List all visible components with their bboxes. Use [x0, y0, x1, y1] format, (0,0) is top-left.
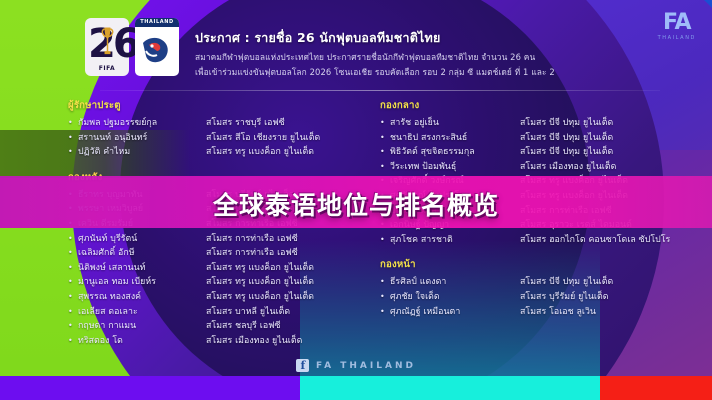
- player-club: สโมสร ชลบุรี เอฟซี: [206, 319, 368, 334]
- goalkeeper-list: •กัมพล ปฐมอรรฆย์กุลสโมสร ราชบุรี เอฟซี •…: [68, 116, 368, 160]
- player-name: นิติพงษ์ เสลานนท์: [78, 261, 206, 276]
- facebook-icon: [296, 359, 309, 372]
- bullet-icon: •: [68, 319, 78, 334]
- bullet-icon: •: [68, 246, 78, 261]
- list-item: •พิธิวัตต์ สุขจิตธรรมกุลสโมสร บีจี ปทุม …: [380, 145, 702, 160]
- fa-thailand-logo: FA THAILAND: [658, 12, 696, 41]
- header-text: ประกาศ : รายชื่อ 26 นักฟุตบอลทีมชาติไทย …: [189, 16, 695, 90]
- section-heading-forwards: กองหน้า: [380, 257, 702, 272]
- crest-label: THAILAND: [135, 18, 179, 27]
- list-item: •สรานนท์ อนุอินทร์สโมสร สีโอ เชียงราย ยู…: [68, 131, 368, 146]
- player-club: สโมสร บีจี ปทุม ยูไนเต็ด: [520, 145, 702, 160]
- bullet-icon: •: [68, 145, 78, 160]
- bullet-icon: •: [68, 131, 78, 146]
- player-club: สโมสร บาหลี ยูไนเต็ด: [206, 305, 368, 320]
- list-item: •กฤษดา กาแมนสโมสร ชลบุรี เอฟซี: [68, 319, 368, 334]
- list-item: •เฉลิมศักดิ์ อักษีสโมสร การท่าเรือ เอฟซี: [68, 246, 368, 261]
- list-item: •มานูเอล ทอม เบียห์รสโมสร ทรู แบงค็อก ยู…: [68, 275, 368, 290]
- bullet-icon: •: [380, 275, 390, 290]
- player-club: สโมสร เมืองทอง ยูไนเต็ด: [206, 334, 368, 349]
- player-name: วีระเทพ ป้อมพันธุ์: [390, 160, 520, 175]
- page-title: ประกาศ : รายชื่อ 26 นักฟุตบอลทีมชาติไทย: [195, 28, 695, 48]
- player-club: สโมสร เมืองทอง ยูไนเต็ด: [520, 160, 702, 175]
- bullet-icon: •: [68, 275, 78, 290]
- list-item: •วีระเทพ ป้อมพันธุ์สโมสร เมืองทอง ยูไนเต…: [380, 160, 702, 175]
- player-club: สโมสร ราชบุรี เอฟซี: [206, 116, 368, 131]
- section-heading-goalkeepers: ผู้รักษาประตู: [68, 98, 368, 113]
- poster-header: 26 FIFA THAILAND ประกาศ : รายชื่อ: [85, 16, 695, 90]
- player-name: มานูเอล ทอม เบียห์ร: [78, 275, 206, 290]
- player-name: เฉลิมศักดิ์ อักษี: [78, 246, 206, 261]
- player-name: สุภโชค สารชาติ: [390, 233, 520, 248]
- bullet-icon: •: [380, 290, 390, 305]
- footer-strip-red: [600, 376, 712, 400]
- player-club: สโมสร สีโอ เชียงราย ยูไนเต็ด: [206, 131, 368, 146]
- fifa-world-cup-26-badge: 26 FIFA: [85, 18, 129, 76]
- player-name: ทริสตอง โด: [78, 334, 206, 349]
- list-item: •นิติพงษ์ เสลานนท์สโมสร ทรู แบงค็อก ยูไน…: [68, 261, 368, 276]
- bullet-icon: •: [68, 116, 78, 131]
- player-name: ศุภชัย ใจเด็ด: [390, 290, 520, 305]
- player-name: พิธิวัตต์ สุขจิตธรรมกุล: [390, 145, 520, 160]
- list-item: •เอเลียส ดอเลาะสโมสร บาหลี ยูไนเต็ด: [68, 305, 368, 320]
- bullet-icon: •: [380, 233, 390, 248]
- player-club: สโมสร ทรู แบงค็อก ยูไนเต็ด: [206, 145, 368, 160]
- list-item: •ศุภชัย ใจเด็ดสโมสร บุรีรัมย์ ยูไนเต็ด: [380, 290, 702, 305]
- player-club: สโมสร การท่าเรือ เอฟซี: [206, 232, 368, 247]
- player-club: สโมสร ทรู แบงค็อก ยูไนเต็ด: [206, 290, 368, 305]
- list-item: •สารัช อยู่เย็นสโมสร บีจี ปทุม ยูไนเต็ด: [380, 116, 702, 131]
- list-item: •สุพรรณ ทองสงค์สโมสร ทรู แบงค็อก ยูไนเต็…: [68, 290, 368, 305]
- player-club: สโมสร บีจี ปทุม ยูไนเต็ด: [520, 275, 702, 290]
- bullet-icon: •: [68, 305, 78, 320]
- overlay-title: 全球泰语地位与排名概览: [0, 186, 712, 222]
- forward-list: •ธีรศิลป์ แดงดาสโมสร บีจี ปทุม ยูไนเต็ด …: [380, 275, 702, 319]
- elephant-icon: [137, 31, 177, 71]
- bullet-icon: •: [68, 232, 78, 247]
- player-club: สโมสร ฮอกไกโด คอนซาโดเล ซัปโปโร: [520, 233, 702, 248]
- social-handle: FA THAILAND: [316, 361, 416, 371]
- player-club: สโมสร บีจี ปทุม ยูไนเต็ด: [520, 116, 702, 131]
- section-forwards: กองหน้า •ธีรศิลป์ แดงดาสโมสร บีจี ปทุม ย…: [380, 257, 702, 319]
- player-club: สโมสร บุรีรัมย์ ยูไนเต็ด: [520, 290, 702, 305]
- player-name: เอเลียส ดอเลาะ: [78, 305, 206, 320]
- bullet-icon: •: [380, 116, 390, 131]
- footer-strip-purple: [0, 376, 300, 400]
- player-name: สุพรรณ ทองสงค์: [78, 290, 206, 305]
- footer-strip-cyan: [300, 376, 600, 400]
- player-name: สรานนท์ อนุอินทร์: [78, 131, 206, 146]
- header-subtitle-2: เพื่อเข้าร่วมแข่งขันฟุตบอลโลก 2026 โซนเอ…: [195, 66, 695, 78]
- list-item: •ปฏิวัติ คำไหมสโมสร ทรู แบงค็อก ยูไนเต็ด: [68, 145, 368, 160]
- list-item: •ศุภนันท์ บุรีรัตน์สโมสร การท่าเรือ เอฟซ…: [68, 232, 368, 247]
- player-club: สโมสร การท่าเรือ เอฟซี: [206, 246, 368, 261]
- thailand-fa-crest: THAILAND: [135, 18, 179, 76]
- list-item: •ธีรศิลป์ แดงดาสโมสร บีจี ปทุม ยูไนเต็ด: [380, 275, 702, 290]
- list-item: •ทริสตอง โดสโมสร เมืองทอง ยูไนเต็ด: [68, 334, 368, 349]
- bullet-icon: •: [380, 131, 390, 146]
- player-name: ชนาธิป สรงกระสินธ์: [390, 131, 520, 146]
- logo-group: 26 FIFA THAILAND: [85, 16, 179, 90]
- section-heading-midfielders: กองกลาง: [380, 98, 702, 113]
- social-footer: FA THAILAND: [0, 359, 712, 372]
- poster-canvas: 26 FIFA THAILAND ประกาศ : รายชื่อ: [0, 0, 712, 400]
- player-name: ศุภณัฏฐ์ เหมือนตา: [390, 305, 520, 320]
- player-name: กัมพล ปฐมอรรฆย์กุล: [78, 116, 206, 131]
- list-item: •ศุภณัฏฐ์ เหมือนตาสโมสร โอเอช ลูเวิน: [380, 305, 702, 320]
- bullet-icon: •: [380, 305, 390, 320]
- player-club: สโมสร ทรู แบงค็อก ยูไนเต็ด: [206, 275, 368, 290]
- player-name: ปฏิวัติ คำไหม: [78, 145, 206, 160]
- player-club: สโมสร โอเอช ลูเวิน: [520, 305, 702, 320]
- list-item: •กัมพล ปฐมอรรฆย์กุลสโมสร ราชบุรี เอฟซี: [68, 116, 368, 131]
- fa-logo-main: FA: [658, 12, 696, 34]
- bullet-icon: •: [68, 290, 78, 305]
- fifa-wordmark: FIFA: [85, 65, 129, 72]
- header-subtitle-1: สมาคมกีฬาฟุตบอลแห่งประเทศไทย ประกาศรายชื…: [195, 51, 695, 63]
- bullet-icon: •: [68, 261, 78, 276]
- player-name: ศุภนันท์ บุรีรัตน์: [78, 232, 206, 247]
- player-name: สารัช อยู่เย็น: [390, 116, 520, 131]
- player-club: สโมสร บีจี ปทุม ยูไนเต็ด: [520, 131, 702, 146]
- player-name: ธีรศิลป์ แดงดา: [390, 275, 520, 290]
- list-item: •ชนาธิป สรงกระสินธ์สโมสร บีจี ปทุม ยูไนเ…: [380, 131, 702, 146]
- bullet-icon: •: [380, 160, 390, 175]
- header-divider: [100, 90, 660, 91]
- section-goalkeepers: ผู้รักษาประตู •กัมพล ปฐมอรรฆย์กุลสโมสร ร…: [68, 98, 368, 160]
- bullet-icon: •: [380, 145, 390, 160]
- fa-logo-sub: THAILAND: [658, 35, 696, 41]
- player-name: กฤษดา กาแมน: [78, 319, 206, 334]
- player-club: สโมสร ทรู แบงค็อก ยูไนเต็ด: [206, 261, 368, 276]
- bullet-icon: •: [68, 334, 78, 349]
- trophy-icon: [100, 26, 115, 60]
- list-item: •สุภโชค สารชาติสโมสร ฮอกไกโด คอนซาโดเล ซ…: [380, 233, 702, 248]
